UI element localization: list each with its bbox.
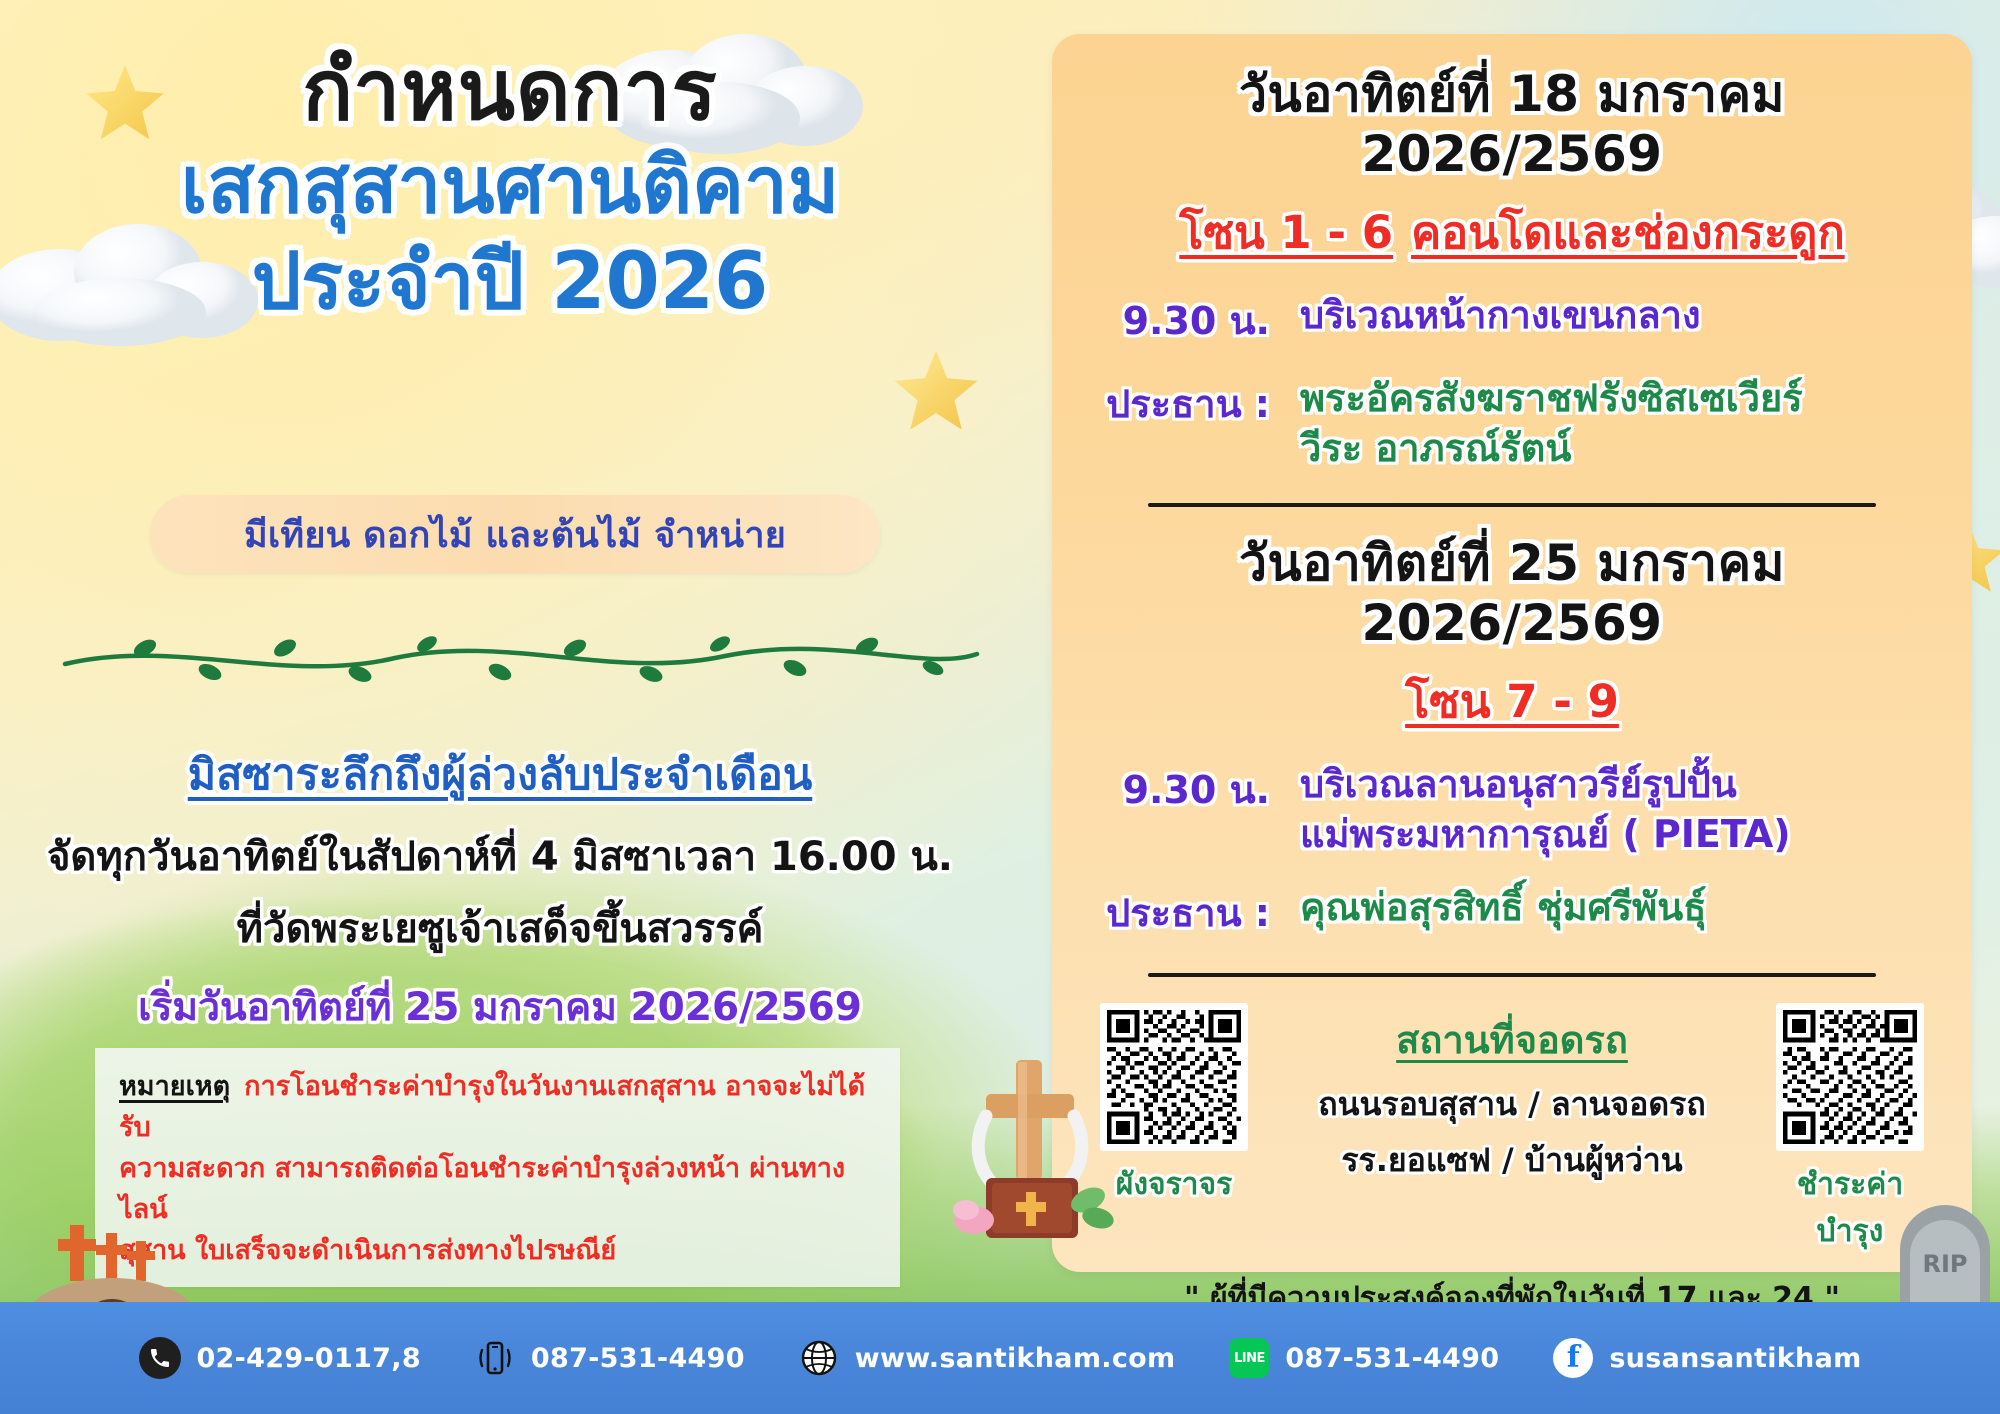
monthly-mass-line-1: จัดทุกวันอาทิตย์ในสัปดาห์ที่ 4 มิสซาเวลา… [0, 824, 1000, 888]
parking-heading: สถานที่จอดรถ [1262, 1009, 1762, 1070]
event-1-chair-value: พระอัครสังฆราชฟรังซิสเซเวียร์ วีระ อาภรณ… [1300, 373, 1934, 473]
section-divider-1 [1148, 503, 1876, 507]
event-block-1: วันอาทิตย์ที่ 18 มกราคม 2026/2569 โซน 1 … [1090, 64, 1934, 473]
event-1-time-value: บริเวณหน้ากางเขนกลาง [1300, 290, 1934, 340]
note-line-3: สุสาน ใบเสร็จจะดำเนินการส่งทางไปรษณีย์ [119, 1230, 878, 1271]
event-2-chair-key: ประธาน : [1090, 882, 1300, 943]
monthly-mass-line-2: ที่วัดพระเยซูเจ้าเสด็จขึ้นสวรรค์ [0, 896, 1000, 960]
event-1-date: วันอาทิตย์ที่ 18 มกราคม 2026/2569 [1090, 64, 1934, 184]
qr-payment-caption: ชำระค่าบำรุง [1766, 1161, 1934, 1255]
qr-traffic-caption: ผังจราจร [1090, 1161, 1258, 1208]
note-text-1: การโอนชำระค่าบำรุงในวันงานเสกสุสาน อาจจะ… [119, 1071, 865, 1143]
note-line-1: หมายเหตุการโอนชำระค่าบำรุงในวันงานเสกสุส… [119, 1066, 878, 1148]
footer-mobile-label: 087-531-4490 [531, 1343, 745, 1374]
schedule-panel: วันอาทิตย์ที่ 18 มกราคม 2026/2569 โซน 1 … [1052, 34, 1972, 1272]
event-2-date: วันอาทิตย์ที่ 25 มกราคม 2026/2569 [1090, 533, 1934, 653]
footer-line-label: 087-531-4490 [1285, 1343, 1499, 1374]
footer-website-label: www.santikham.com [855, 1343, 1176, 1374]
note-label: หมายเหตุ [119, 1071, 230, 1102]
footer-item-website[interactable]: www.santikham.com [771, 1336, 1202, 1380]
parking-section: ผังจราจร สถานที่จอดรถ ถนนรอบสุสาน / ลานจ… [1090, 1003, 1934, 1255]
globe-icon [797, 1336, 841, 1380]
parking-line-1: ถนนรอบสุสาน / ลานจอดรถ [1262, 1082, 1762, 1127]
qr-payment[interactable]: ชำระค่าบำรุง [1766, 1003, 1934, 1255]
parking-line-2: รร.ยอแซฟ / บ้านผู้หว่าน [1262, 1138, 1762, 1183]
event-1-zone-label: โซน 1 - 6 [1179, 206, 1393, 259]
footer-item-line[interactable]: LINE 087-531-4490 [1201, 1336, 1525, 1380]
event-1-time-row: 9.30 น. บริเวณหน้ากางเขนกลาง [1090, 290, 1934, 351]
section-divider-2 [1148, 973, 1876, 977]
monthly-mass-line-3: เริ่มวันอาทิตย์ที่ 25 มกราคม 2026/2569 [0, 976, 1000, 1038]
line-icon: LINE [1227, 1336, 1271, 1380]
event-2-time-line-1: บริเวณลานอนุสาวรีย์รูปปั้น [1300, 759, 1934, 809]
qr-traffic-map[interactable]: ผังจราจร [1090, 1003, 1258, 1208]
footer-item-facebook[interactable]: f susansantikham [1525, 1336, 1887, 1380]
event-1-chair-line-1: พระอัครสังฆราชฟรังซิสเซเวียร์ [1300, 373, 1934, 423]
poster-canvas: กำหนดการ เสกสุสานศานติคาม ประจำปี 2026 ม… [0, 0, 2000, 1414]
event-2-time-line-2: แม่พระมหาการุณย์ ( PIETA) [1300, 809, 1934, 859]
footer-contact-bar: 02-429-0117,8 087-531-4490 [0, 1302, 2000, 1414]
event-1-zone-desc: คอนโดและช่องกระดูก [1411, 206, 1845, 259]
note-box: หมายเหตุการโอนชำระค่าบำรุงในวันงานเสกสุส… [95, 1048, 900, 1287]
vine-divider-icon [55, 628, 985, 690]
mobile-icon [473, 1336, 517, 1380]
monthly-mass-heading: มิสซาระลึกถึงผู้ล่วงลับประจำเดือน [0, 740, 1000, 808]
footer-item-mobile[interactable]: 087-531-4490 [447, 1336, 771, 1380]
event-1-zone: โซน 1 - 6คอนโดและช่องกระดูก [1090, 196, 1934, 268]
footer-phone-label: 02-429-0117,8 [196, 1343, 420, 1374]
title-line-2: เสกสุสานศานติคาม [0, 140, 1020, 232]
footer-facebook-label: susansantikham [1609, 1343, 1861, 1374]
event-2-time-key: 9.30 น. [1090, 759, 1300, 820]
event-2-zone-label: โซน 7 - 9 [1405, 675, 1619, 728]
parking-info: สถานที่จอดรถ ถนนรอบสุสาน / ลานจอดรถ รร.ย… [1258, 1003, 1766, 1184]
phone-icon [138, 1336, 182, 1380]
event-2-chair-row: ประธาน : คุณพ่อสุรสิทธิ์ ชุ่มศรีพันธุ์ [1090, 882, 1934, 943]
event-1-time-key: 9.30 น. [1090, 290, 1300, 351]
event-2-time-row: 9.30 น. บริเวณลานอนุสาวรีย์รูปปั้น แม่พร… [1090, 759, 1934, 859]
event-1-chair-row: ประธาน : พระอัครสังฆราชฟรังซิสเซเวียร์ ว… [1090, 373, 1934, 473]
poster-title: กำหนดการ เสกสุสานศานติคาม ประจำปี 2026 [0, 46, 1020, 328]
title-line-1: กำหนดการ [0, 46, 1020, 134]
qr-code-payment-icon[interactable] [1776, 1003, 1924, 1151]
event-1-chair-key: ประธาน : [1090, 373, 1300, 434]
footer-item-phone[interactable]: 02-429-0117,8 [112, 1336, 446, 1380]
qr-code-traffic-icon[interactable] [1100, 1003, 1248, 1151]
event-2-zone: โซน 7 - 9 [1090, 665, 1934, 737]
sales-notice-text: มีเทียน ดอกไม้ และต้นไม้ จำหน่าย [244, 506, 786, 563]
event-1-chair-line-2: วีระ อาภรณ์รัตน์ [1300, 423, 1934, 473]
left-column: กำหนดการ เสกสุสานศานติคาม ประจำปี 2026 ม… [0, 0, 1050, 1310]
sales-notice-pill: มีเทียน ดอกไม้ และต้นไม้ จำหน่าย [150, 495, 880, 573]
title-line-3: ประจำปี 2026 [0, 236, 1020, 328]
event-2-time-value: บริเวณลานอนุสาวรีย์รูปปั้น แม่พระมหาการุ… [1300, 759, 1934, 859]
event-block-2: วันอาทิตย์ที่ 25 มกราคม 2026/2569 โซน 7 … [1090, 533, 1934, 942]
facebook-icon: f [1551, 1336, 1595, 1380]
note-line-2: ความสะดวก สามารถติดต่อโอนชำระค่าบำรุงล่ว… [119, 1148, 878, 1230]
event-2-chair-value: คุณพ่อสุรสิทธิ์ ชุ่มศรีพันธุ์ [1300, 882, 1934, 932]
monthly-mass-block: มิสซาระลึกถึงผู้ล่วงลับประจำเดือน จัดทุก… [0, 740, 1000, 1038]
